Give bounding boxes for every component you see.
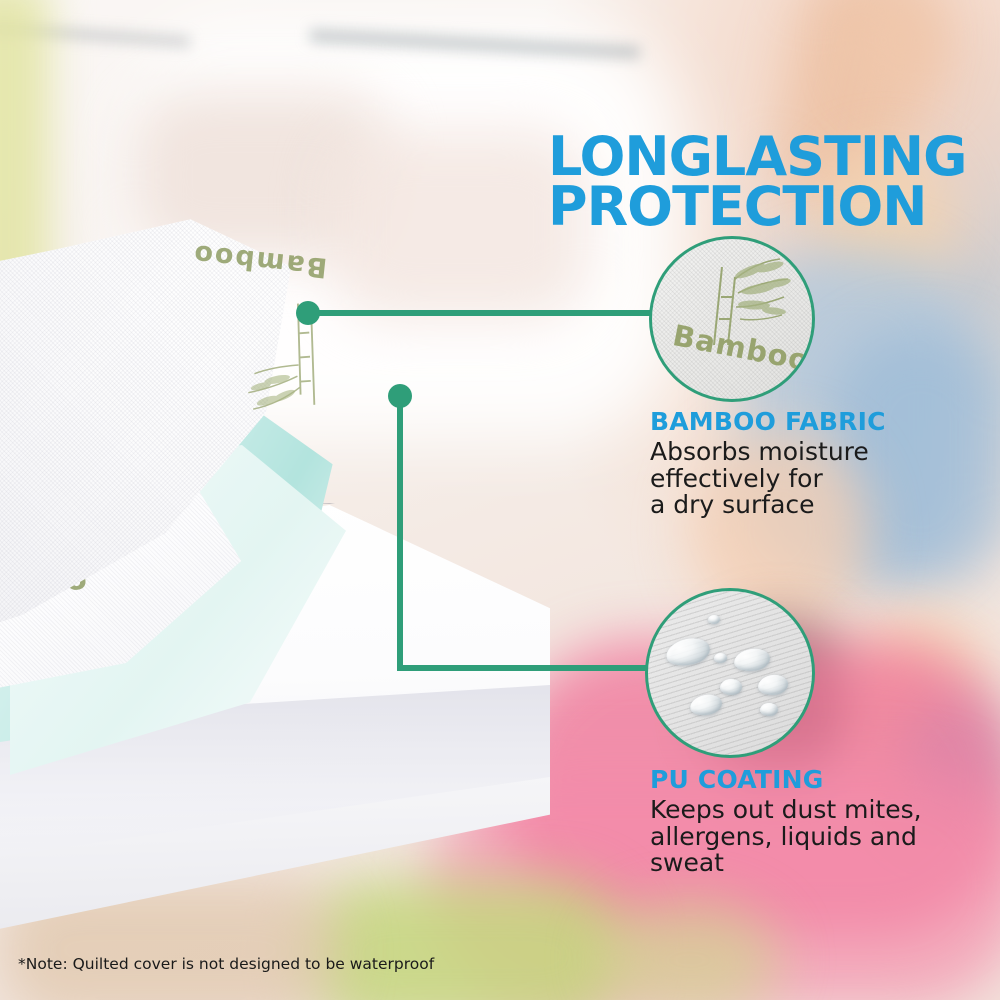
feature-title-pu: PU COATING <box>650 765 980 794</box>
headline: LONGLASTING PROTECTION <box>548 132 988 231</box>
product-photo: Bamboo Bamboo <box>0 215 560 915</box>
callout-bamboo-fabric[interactable]: Bamboo <box>649 236 815 402</box>
feature-bamboo-fabric: BAMBOO FABRIC Absorbs moisture effective… <box>650 407 980 519</box>
feature-body-pu: Keeps out dust mites, allergens, liquids… <box>650 797 980 877</box>
water-droplet-icon <box>720 679 742 695</box>
feature-body-line: sweat <box>650 848 724 877</box>
feature-body-line: effectively for <box>650 464 823 493</box>
feature-body-bamboo: Absorbs moisture effectively for a dry s… <box>650 439 980 519</box>
pu-swatch-ribs <box>648 591 812 755</box>
footnote: *Note: Quilted cover is not designed to … <box>18 955 434 973</box>
headline-line-2: PROTECTION <box>548 182 988 232</box>
feature-body-line: Absorbs moisture <box>650 437 869 466</box>
callout-pu-coating[interactable] <box>645 588 815 758</box>
feature-body-line: Keeps out dust mites, <box>650 795 922 824</box>
feature-title-bamboo: BAMBOO FABRIC <box>650 407 980 436</box>
water-droplet-icon <box>708 615 720 624</box>
feature-body-line: a dry surface <box>650 490 815 519</box>
product-infographic: Bamboo Bamboo <box>0 0 1000 1000</box>
feature-pu-coating: PU COATING Keeps out dust mites, allerge… <box>650 765 980 877</box>
bamboo-stalk-illustration-flap <box>205 301 344 450</box>
water-droplet-icon <box>714 653 727 663</box>
feature-body-line: allergens, liquids and <box>650 822 917 851</box>
water-droplet-icon <box>760 703 778 716</box>
